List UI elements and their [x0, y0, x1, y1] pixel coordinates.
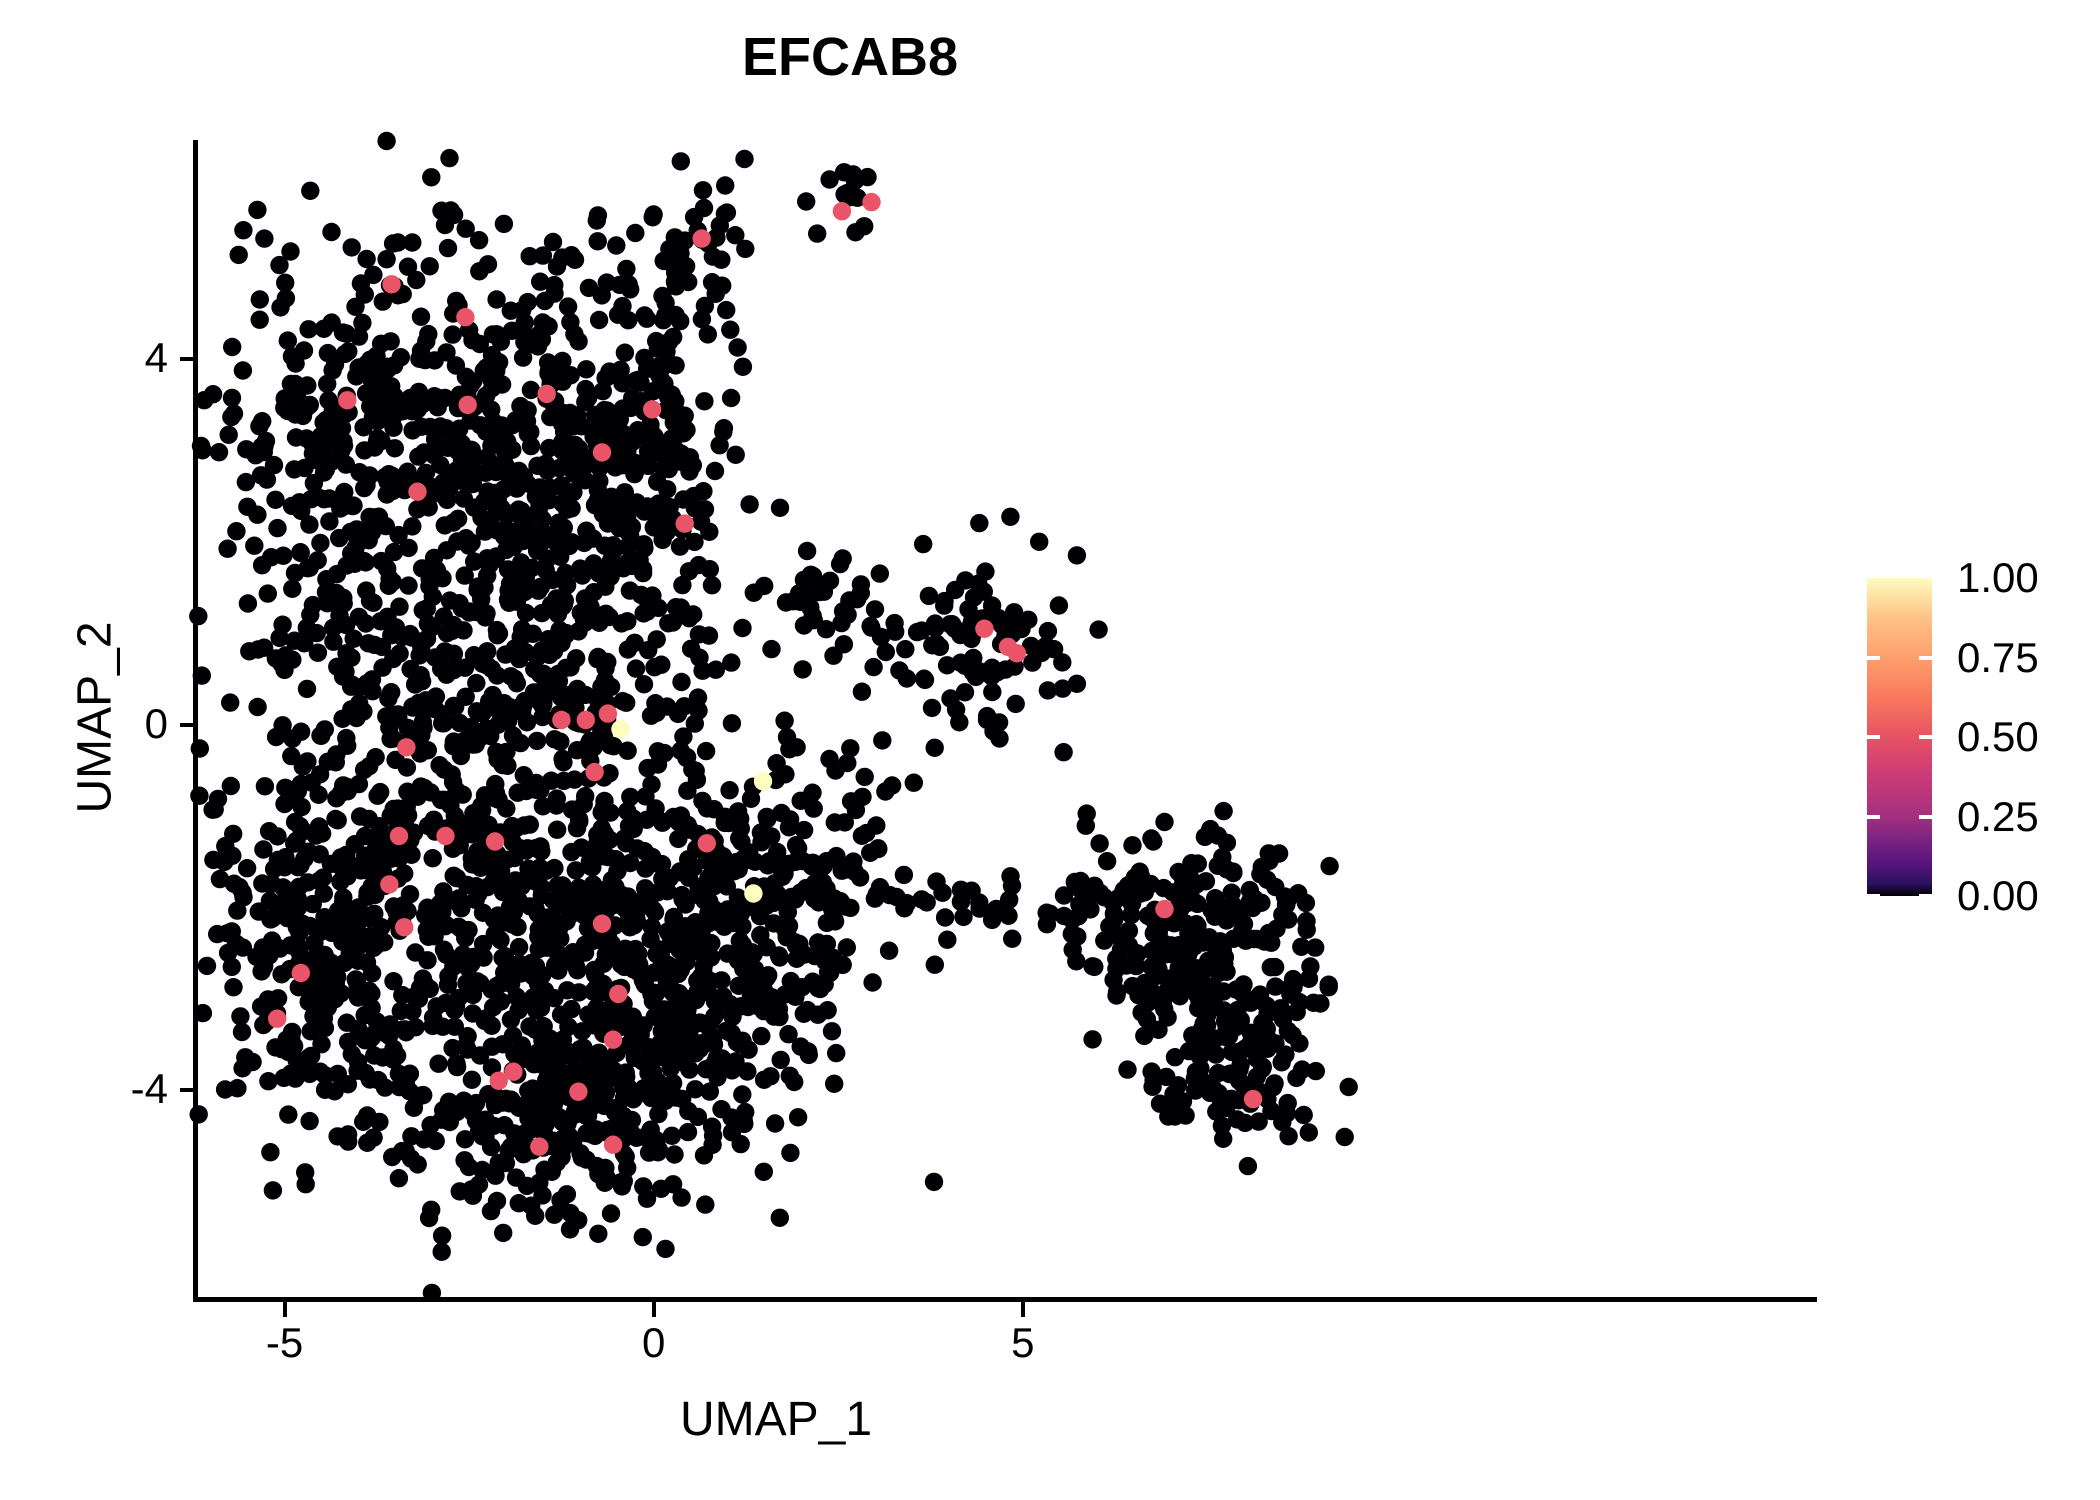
scatter-point [550, 1108, 568, 1126]
scatter-point [575, 906, 593, 924]
scatter-point [593, 915, 611, 933]
scatter-point [628, 962, 646, 980]
scatter-point [390, 1169, 408, 1187]
scatter-point [591, 487, 609, 505]
scatter-point [914, 535, 932, 553]
scatter-point [208, 925, 226, 943]
scatter-point [1340, 1078, 1358, 1096]
scatter-point [301, 1065, 319, 1083]
scatter-point [752, 1027, 770, 1045]
scatter-point [706, 462, 724, 480]
scatter-point [1064, 941, 1082, 959]
scatter-point [759, 856, 777, 874]
scatter-point [1298, 921, 1316, 939]
scatter-point [619, 640, 637, 658]
scatter-point [261, 892, 279, 910]
scatter-point [382, 377, 400, 395]
scatter-point [594, 975, 612, 993]
scatter-point [514, 698, 532, 716]
scatter-point [243, 1053, 261, 1071]
scatter-point [301, 606, 319, 624]
scatter-point [672, 598, 690, 616]
scatter-point [350, 327, 368, 345]
scatter-point [671, 862, 689, 880]
scatter-point [1306, 938, 1324, 956]
scatter-point [671, 312, 689, 330]
scatter-point [350, 775, 368, 793]
scatter-point [775, 712, 793, 730]
scatter-point [455, 1151, 473, 1169]
scatter-point [834, 549, 852, 567]
scatter-point [1089, 620, 1107, 638]
scatter-point [561, 1204, 579, 1222]
scatter-point [239, 594, 257, 612]
scatter-point [504, 726, 522, 744]
scatter-point [653, 953, 671, 971]
scatter-point [322, 223, 340, 241]
scatter-point [794, 660, 812, 678]
scatter-point [526, 1207, 544, 1225]
scatter-point [275, 1069, 293, 1087]
scatter-point [684, 456, 702, 474]
scatter-point [723, 1024, 741, 1042]
scatter-point [923, 699, 941, 717]
scatter-point [534, 313, 552, 331]
scatter-point [223, 958, 241, 976]
scatter-point [414, 718, 432, 736]
scatter-point [675, 697, 693, 715]
scatter-point [716, 905, 734, 923]
scatter-point [840, 591, 858, 609]
scatter-point [970, 514, 988, 532]
scatter-point [626, 224, 644, 242]
scatter-point [436, 389, 454, 407]
scatter-point [189, 607, 207, 625]
scatter-point [230, 246, 248, 264]
scatter-point [1139, 994, 1157, 1012]
scatter-point [567, 861, 585, 879]
scatter-point [861, 617, 879, 635]
scatter-point [354, 1113, 372, 1131]
scatter-point [553, 750, 571, 768]
scatter-point [519, 995, 537, 1013]
scatter-point [592, 678, 610, 696]
scatter-point [285, 1037, 303, 1055]
scatter-point [640, 1143, 658, 1161]
scatter-point [1188, 917, 1206, 935]
scatter-point [697, 742, 715, 760]
scatter-point [926, 739, 944, 757]
y-axis-line [193, 140, 198, 1300]
scatter-point [692, 1035, 710, 1053]
scatter-point [224, 978, 242, 996]
scatter-point [299, 320, 317, 338]
scatter-point [776, 765, 794, 783]
scatter-point [621, 581, 639, 599]
scatter-point [896, 640, 914, 658]
scatter-point [1054, 679, 1072, 697]
scatter-point [611, 410, 629, 428]
scatter-point [539, 363, 557, 381]
scatter-point [299, 843, 317, 861]
scatter-point [283, 580, 301, 598]
scatter-point [1068, 546, 1086, 564]
scatter-point [380, 465, 398, 483]
scatter-point [762, 640, 780, 658]
scatter-point [334, 432, 352, 450]
scatter-point [456, 1130, 474, 1148]
scatter-point [727, 446, 745, 464]
scatter-point [916, 671, 934, 689]
scatter-point [516, 643, 534, 661]
scatter-point [716, 176, 734, 194]
scatter-point [617, 1068, 635, 1086]
scatter-point [361, 397, 379, 415]
scatter-point [290, 878, 308, 896]
scatter-point [946, 581, 964, 599]
scatter-point [680, 933, 698, 951]
scatter-point [271, 298, 289, 316]
scatter-point [548, 821, 566, 839]
scatter-point [1070, 879, 1088, 897]
scatter-point [1249, 1112, 1267, 1130]
page-title: EFCAB8 [0, 26, 1700, 88]
scatter-point [283, 497, 301, 515]
scatter-point [403, 233, 421, 251]
scatter-point [703, 576, 721, 594]
scatter-point [712, 1100, 730, 1118]
scatter-point [377, 250, 395, 268]
scatter-point [252, 466, 270, 484]
scatter-point [256, 777, 274, 795]
scatter-point [366, 748, 384, 766]
scatter-point [544, 233, 562, 251]
scatter-point [1209, 826, 1227, 844]
scatter-point [672, 152, 690, 170]
scatter-point [467, 877, 485, 895]
scatter-point [1260, 924, 1278, 942]
scatter-point [269, 851, 287, 869]
scatter-point [364, 266, 382, 284]
scatter-point [1248, 1050, 1266, 1068]
scatter-point [266, 491, 284, 509]
scatter-point [696, 500, 714, 518]
scatter-point [635, 675, 653, 693]
scatter-point [778, 927, 796, 945]
scatter-point [809, 576, 827, 594]
scatter-point [952, 881, 970, 899]
scatter-point [382, 332, 400, 350]
scatter-point [1144, 832, 1162, 850]
scatter-point [268, 519, 286, 537]
scatter-point [1001, 508, 1019, 526]
scatter-point [1107, 986, 1125, 1004]
scatter-point [447, 997, 465, 1015]
scatter-point [642, 775, 660, 793]
scatter-point [798, 542, 816, 560]
scatter-point [787, 853, 805, 871]
scatter-point [1185, 937, 1203, 955]
scatter-point [531, 837, 549, 855]
scatter-point [717, 301, 735, 319]
scatter-point [855, 217, 873, 235]
x-tick-mark [1021, 1302, 1025, 1317]
scatter-point [417, 464, 435, 482]
scatter-point [862, 193, 880, 211]
scatter-point [604, 1136, 622, 1154]
scatter-point [755, 577, 773, 595]
scatter-point [1258, 871, 1276, 889]
scatter-point [448, 869, 466, 887]
scatter-point [552, 711, 570, 729]
scatter-point [1155, 900, 1173, 918]
scatter-point [665, 430, 683, 448]
scatter-point [1077, 817, 1095, 835]
scatter-point [1144, 1071, 1162, 1089]
scatter-point [926, 619, 944, 637]
scatter-point [540, 644, 558, 662]
scatter-point [673, 886, 691, 904]
scatter-point [284, 904, 302, 922]
scatter-point [343, 238, 361, 256]
scatter-point [582, 932, 600, 950]
scatter-point [530, 692, 548, 710]
scatter-point [296, 1163, 314, 1181]
scatter-point [483, 1017, 501, 1035]
scatter-point [920, 587, 938, 605]
scatter-point [864, 658, 882, 676]
scatter-point [446, 892, 464, 910]
scatter-point [695, 1146, 713, 1164]
scatter-point [492, 333, 510, 351]
scatter-point [672, 806, 690, 824]
scatter-point [1223, 1043, 1241, 1061]
scatter-point [926, 956, 944, 974]
y-tick-mark [180, 723, 194, 727]
scatter-point [634, 1177, 652, 1195]
scatter-point [220, 426, 238, 444]
scatter-point [358, 674, 376, 692]
scatter-point [292, 964, 310, 982]
scatter-point [315, 884, 333, 902]
scatter-point [434, 1018, 452, 1036]
scatter-point [618, 802, 636, 820]
scatter-point [634, 1228, 652, 1246]
scatter-point [619, 887, 637, 905]
scatter-point [231, 1007, 249, 1025]
scatter-point [732, 832, 750, 850]
scatter-point [1213, 1117, 1231, 1135]
scatter-point [399, 258, 417, 276]
scatter-point [348, 1062, 366, 1080]
scatter-point [447, 1054, 465, 1072]
scatter-point [290, 943, 308, 961]
scatter-point [286, 564, 304, 582]
scatter-point [418, 951, 436, 969]
scatter-point [546, 1069, 564, 1087]
scatter-point [905, 774, 923, 792]
scatter-point [970, 893, 988, 911]
scatter-point [410, 383, 428, 401]
scatter-point [671, 537, 689, 555]
colorbar-tick-mark [1867, 894, 1932, 898]
scatter-point [925, 1173, 943, 1191]
scatter-point [355, 479, 373, 497]
scatter-point [414, 969, 432, 987]
scatter-point [301, 182, 319, 200]
scatter-point [694, 181, 712, 199]
scatter-point [1290, 1034, 1308, 1052]
scatter-point [641, 433, 659, 451]
scatter-point [726, 226, 744, 244]
scatter-point [653, 531, 671, 549]
scatter-point [377, 132, 395, 150]
scatter-point [643, 400, 661, 418]
scatter-point [216, 837, 234, 855]
chart-root: EFCAB8 40-4 -505 UMAP_1 UMAP_2 1.000.750… [0, 0, 2100, 1500]
scatter-point [302, 1047, 320, 1065]
scatter-point [261, 1143, 279, 1161]
scatter-point [664, 911, 682, 929]
scatter-point [604, 1031, 622, 1049]
scatter-point [380, 875, 398, 893]
scatter-point [510, 839, 528, 857]
scatter-point [617, 834, 635, 852]
scatter-point [273, 616, 291, 634]
scatter-point [1295, 1106, 1313, 1124]
scatter-point [771, 499, 789, 517]
scatter-point [209, 790, 227, 808]
scatter-point [530, 1137, 548, 1155]
scatter-point [469, 843, 487, 861]
scatter-point [649, 755, 667, 773]
scatter-point [841, 739, 859, 757]
scatter-point [603, 884, 621, 902]
scatter-point [439, 239, 457, 257]
scatter-point [522, 381, 540, 399]
scatter-point [644, 205, 662, 223]
scatter-point [478, 422, 496, 440]
scatter-point [832, 614, 850, 632]
scatter-point [690, 556, 708, 574]
scatter-point [602, 1204, 620, 1222]
scatter-point [1277, 895, 1295, 913]
scatter-point [833, 202, 851, 220]
scatter-point [701, 972, 719, 990]
y-tick-mark [180, 1088, 194, 1092]
scatter-point [369, 429, 387, 447]
scatter-point [1293, 1060, 1311, 1078]
scatter-point [732, 1135, 750, 1153]
scatter-point [422, 1201, 440, 1219]
scatter-point [808, 224, 826, 242]
scatter-point [1280, 979, 1298, 997]
y-tick-mark [180, 357, 194, 361]
scatter-point [577, 711, 595, 729]
scatter-point [465, 552, 483, 570]
x-tick-label: -5 [215, 1322, 355, 1364]
scatter-point [339, 1125, 357, 1143]
scatter-point [593, 443, 611, 461]
scatter-point [705, 800, 723, 818]
scatter-point [272, 654, 290, 672]
scatter-point [248, 698, 266, 716]
scatter-point [381, 730, 399, 748]
scatter-point [842, 792, 860, 810]
scatter-point [357, 614, 375, 632]
scatter-point [642, 985, 660, 1003]
scatter-point [432, 660, 450, 678]
scatter-point [323, 361, 341, 379]
scatter-point [410, 350, 428, 368]
scatter-point [403, 1002, 421, 1020]
scatter-point [493, 949, 511, 967]
scatter-point [467, 674, 485, 692]
scatter-point [304, 1007, 322, 1025]
scatter-point [513, 517, 531, 535]
scatter-point [568, 961, 586, 979]
scatter-point [348, 520, 366, 538]
scatter-point [781, 810, 799, 828]
scatter-point [700, 626, 718, 644]
scatter-point [377, 358, 395, 376]
scatter-point [699, 325, 717, 343]
scatter-point [696, 1195, 714, 1213]
scatter-point [733, 1085, 751, 1103]
scatter-point [225, 404, 243, 422]
scatter-point [515, 766, 533, 784]
scatter-point [638, 811, 656, 829]
scatter-point [445, 206, 463, 224]
scatter-point [351, 807, 369, 825]
scatter-point [956, 683, 974, 701]
scatter-point [1279, 1094, 1297, 1112]
scatter-point [488, 750, 506, 768]
scatter-point [1224, 863, 1242, 881]
scatter-point [982, 667, 1000, 685]
scatter-point [470, 262, 488, 280]
scatter-point [378, 559, 396, 577]
scatter-point [378, 485, 396, 503]
scatter-point [557, 624, 575, 642]
colorbar-tick-label: 0.25 [1957, 796, 2039, 838]
scatter-point [397, 738, 415, 756]
scatter-point [483, 1038, 501, 1056]
scatter-point [252, 962, 270, 980]
scatter-point [561, 1220, 579, 1238]
scatter-point [740, 495, 758, 513]
scatter-point [772, 1051, 790, 1069]
y-axis-title: UMAP_2 [68, 138, 123, 1298]
scatter-point [596, 825, 614, 843]
scatter-point [695, 392, 713, 410]
scatter-point [638, 310, 656, 328]
scatter-point [1053, 653, 1071, 671]
scatter-point [1239, 1157, 1257, 1175]
scatter-point [604, 502, 622, 520]
x-tick-label: 0 [584, 1322, 724, 1364]
scatter-point [519, 293, 537, 311]
scatter-point [223, 389, 241, 407]
scatter-point [1118, 885, 1136, 903]
scatter-point [1220, 1065, 1238, 1083]
scatter-point [358, 1134, 376, 1152]
scatter-point [770, 1008, 788, 1026]
scatter-point [437, 916, 455, 934]
scatter-point [755, 1071, 773, 1089]
scatter-point [624, 1008, 642, 1026]
scatter-point [429, 1055, 447, 1073]
